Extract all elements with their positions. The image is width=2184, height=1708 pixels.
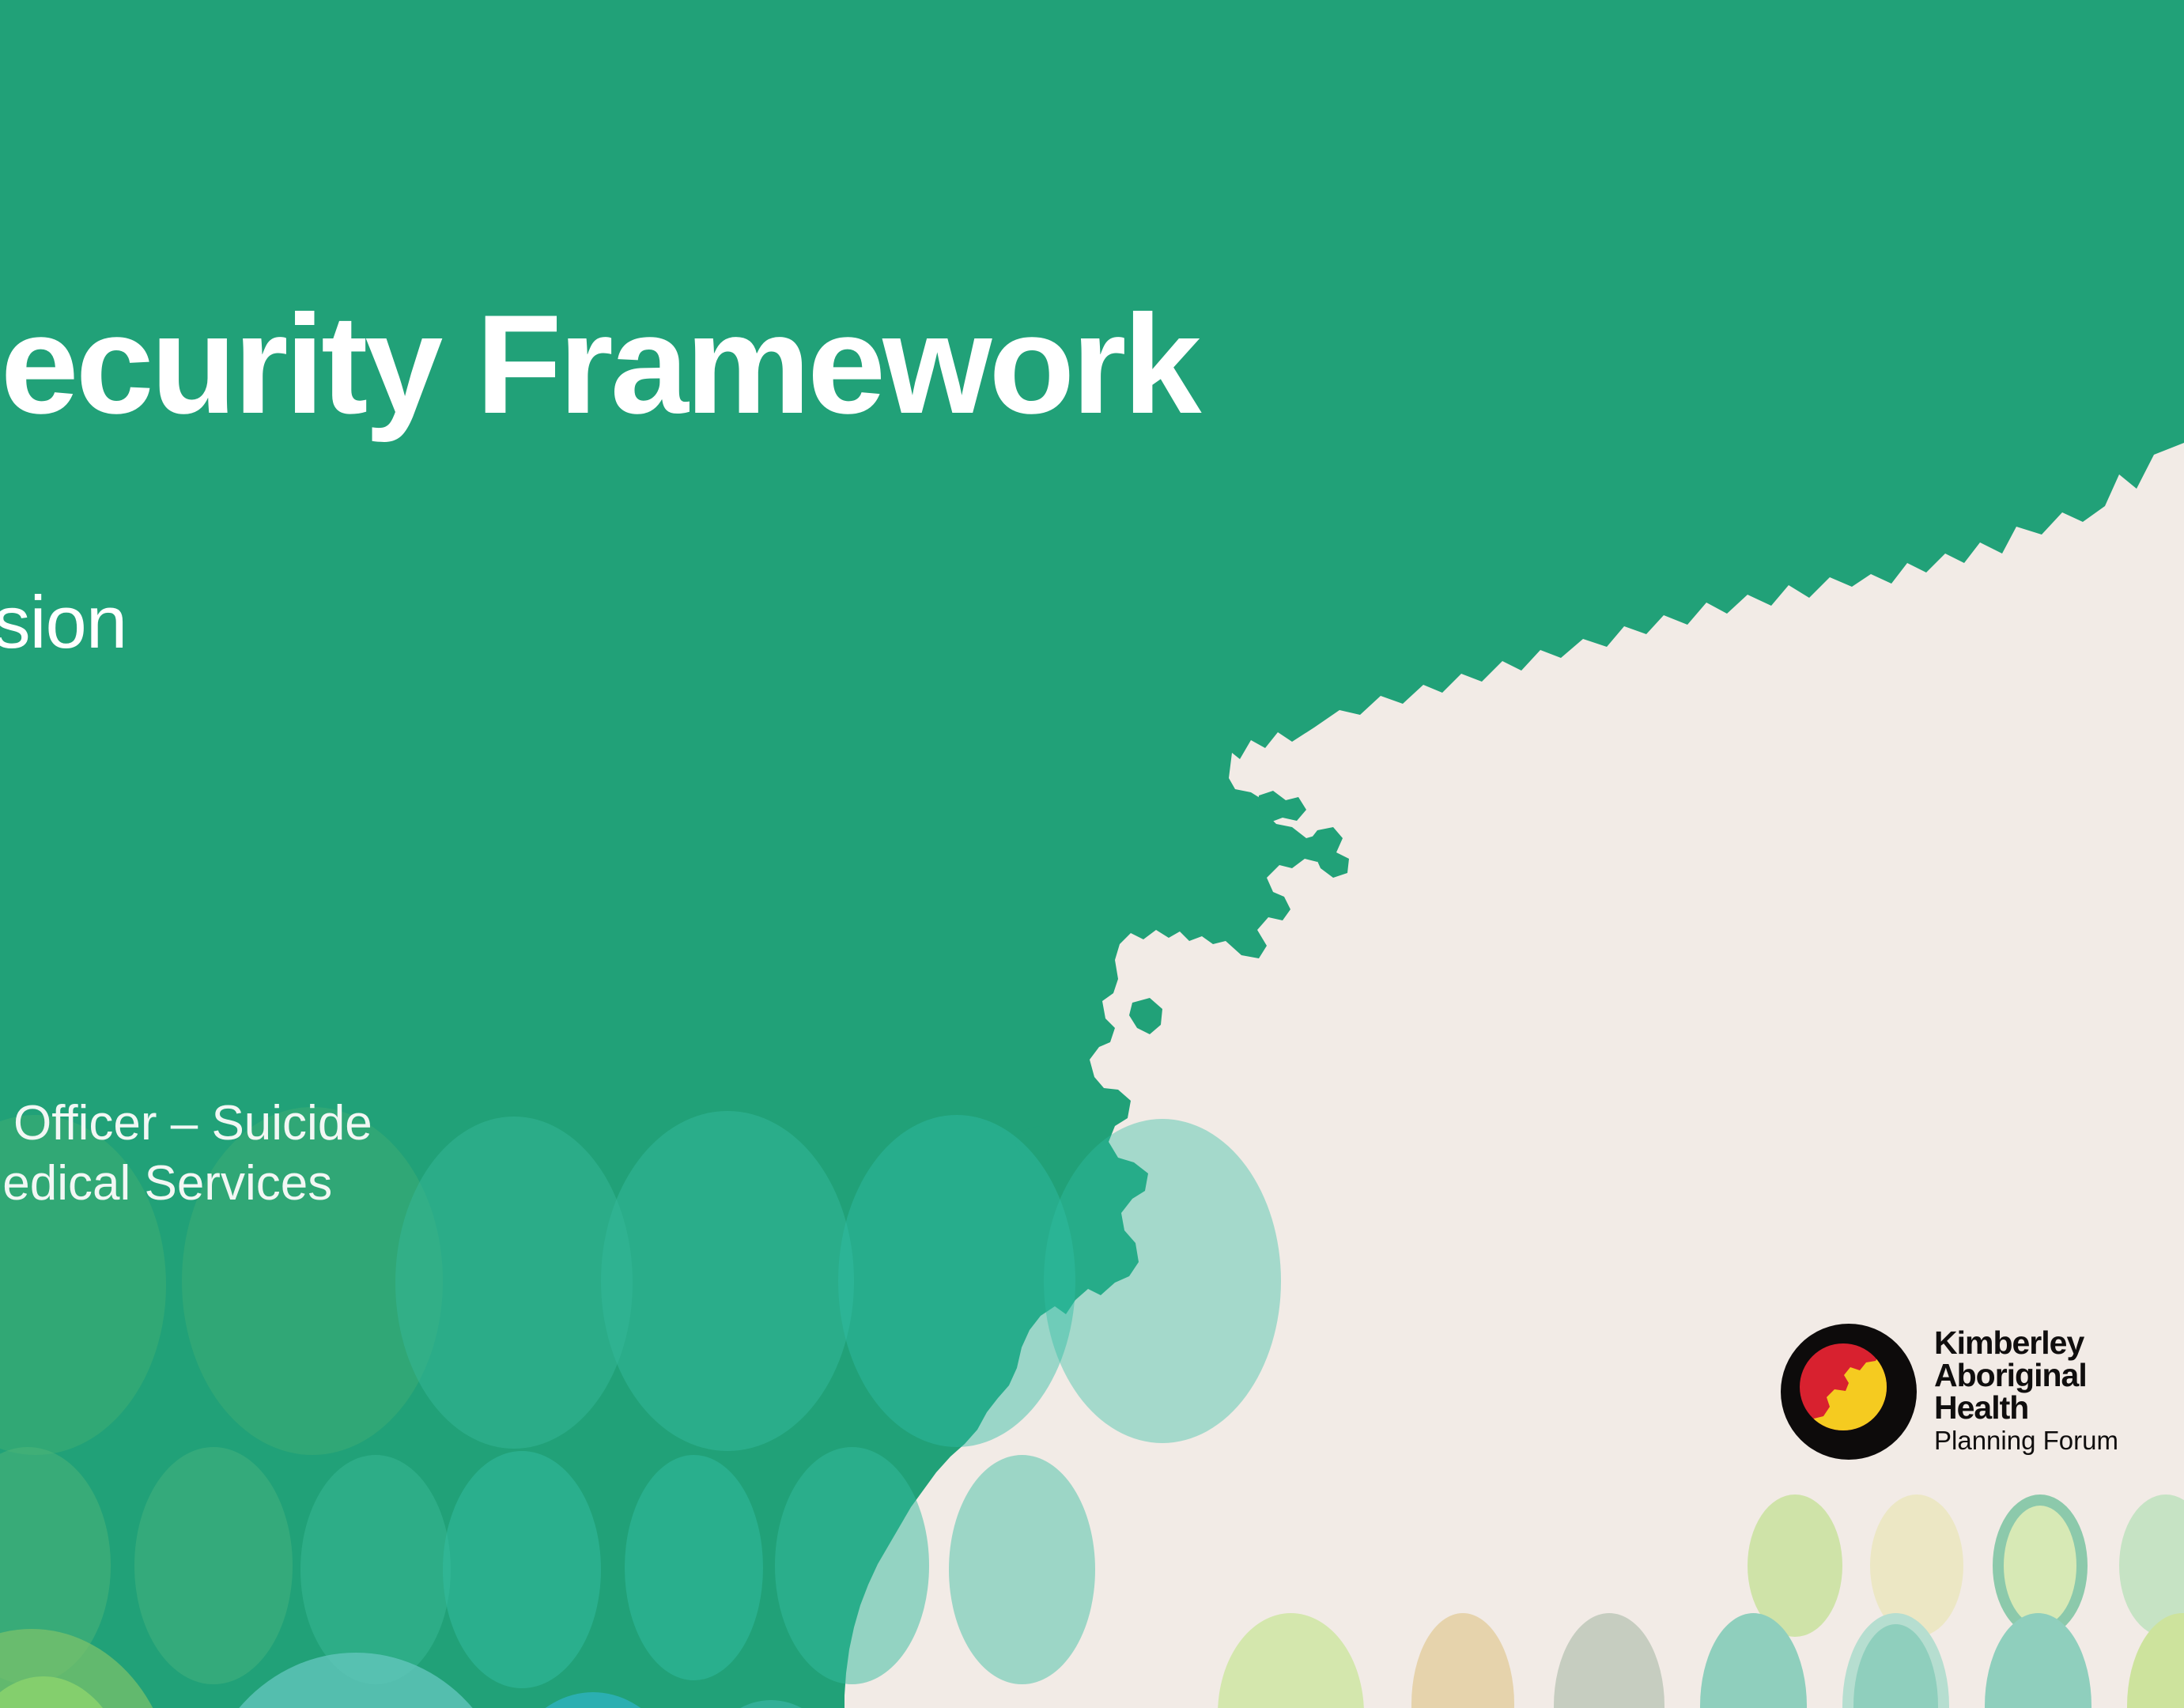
decor-circle	[0, 1447, 111, 1684]
decor-circle	[134, 1447, 293, 1684]
decor-circle	[0, 1629, 174, 1708]
presentation-slide: Kimberley Aboriginal Health Planning For…	[0, 0, 2184, 1708]
decor-circle	[0, 1676, 134, 1708]
logo-line-kimberley: Kimberley	[1934, 1327, 2118, 1359]
logo-red-yellow-disc	[1800, 1343, 1887, 1430]
slide-subtitle: n session	[0, 581, 127, 663]
decor-circle	[198, 1653, 514, 1708]
slide-title: al Security Framework	[0, 293, 2056, 436]
decor-circle	[395, 1117, 633, 1449]
decor-circle	[490, 1692, 696, 1708]
logo-line-aboriginal: Aboriginal	[1934, 1359, 2118, 1392]
logo-wordmark: Kimberley Aboriginal Health Planning For…	[1934, 1327, 2118, 1457]
presenter-role-line: ity Building Officer – Suicide	[0, 1094, 372, 1154]
presenter-org-line: boriginal Medical Services	[0, 1154, 372, 1214]
logo-line-health: Health	[1934, 1392, 2118, 1424]
decor-circle	[443, 1451, 601, 1688]
kahpf-logo: Kimberley Aboriginal Health Planning For…	[1781, 1313, 2144, 1471]
decor-circle	[625, 1455, 763, 1680]
decor-circle	[300, 1455, 451, 1684]
presenter-credit: ity Building Officer – Suicide boriginal…	[0, 1094, 372, 1213]
logo-line-planning-forum: Planning Forum	[1934, 1424, 2118, 1457]
aboriginal-flag-circle-icon	[1781, 1324, 1917, 1460]
